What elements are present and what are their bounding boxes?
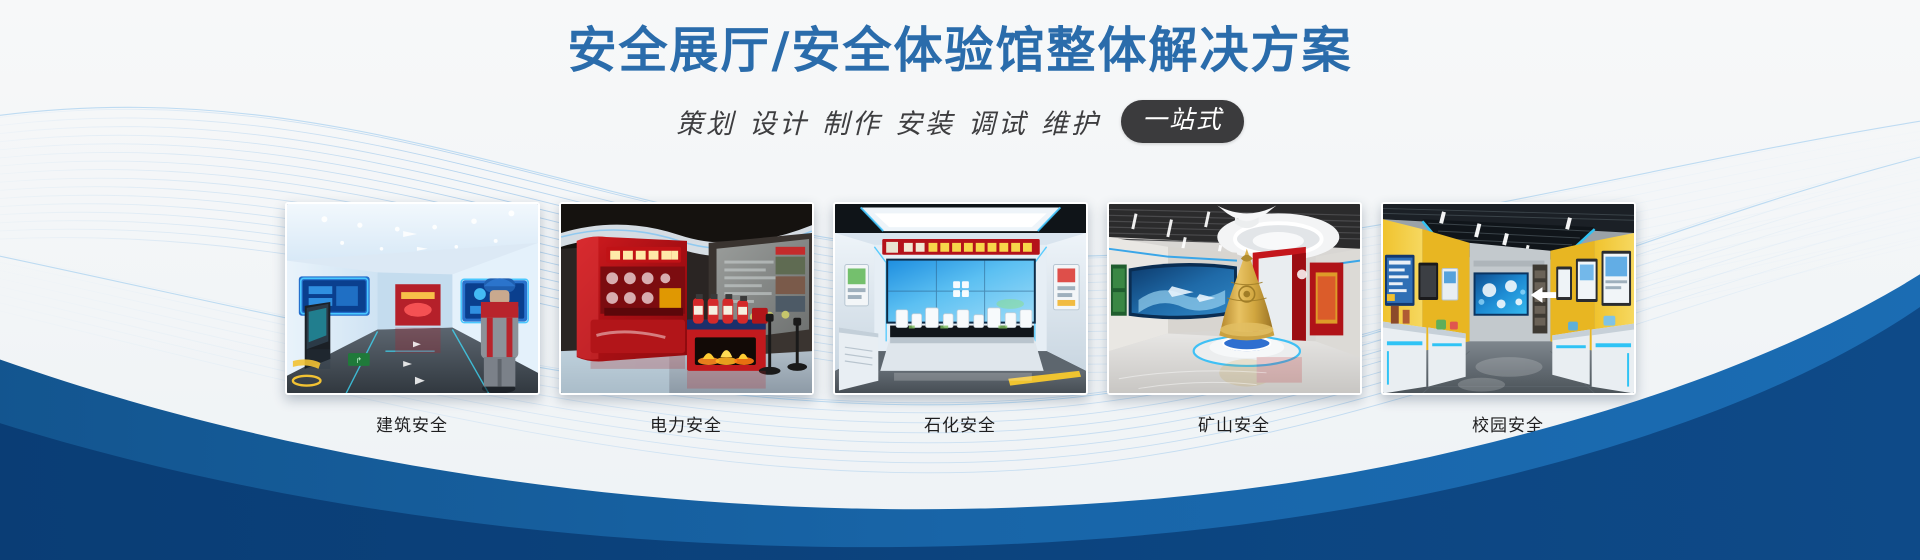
case-card-construction-safety[interactable]: ↱ xyxy=(285,202,540,436)
thumbnail-campus-safety[interactable] xyxy=(1381,202,1636,395)
page-title: 安全展厅/安全体验馆整体解决方案 xyxy=(568,22,1353,80)
service-steps: 策划 设计 制作 安装 调试 维护 一站式 xyxy=(0,100,1920,143)
service-step-production: 制作 xyxy=(822,102,882,141)
case-caption: 建筑安全 xyxy=(376,411,448,436)
service-step-planning: 策划 xyxy=(676,102,736,141)
case-card-petrochemical-safety[interactable]: 石化安全 xyxy=(833,202,1088,436)
service-step-design: 设计 xyxy=(749,102,809,141)
case-caption: 石化安全 xyxy=(924,411,996,436)
thumbnail-construction-safety[interactable]: ↱ xyxy=(285,202,540,395)
case-card-campus-safety[interactable]: 校园安全 xyxy=(1381,202,1636,436)
svg-text:↱: ↱ xyxy=(355,356,362,365)
case-card-power-safety[interactable]: 电力安全 xyxy=(559,202,814,436)
case-caption: 矿山安全 xyxy=(1198,411,1270,436)
thumbnail-petrochemical-safety[interactable] xyxy=(833,202,1088,395)
banner-root: 安全展厅/安全体验馆整体解决方案 策划 设计 制作 安装 调试 维护 一站式 xyxy=(0,0,1920,560)
title-wrap: 安全展厅/安全体验馆整体解决方案 xyxy=(0,22,1920,80)
thumbnail-mine-safety[interactable] xyxy=(1107,202,1362,395)
service-step-installation: 安装 xyxy=(895,102,955,141)
one-stop-badge: 一站式 xyxy=(1121,100,1244,143)
case-caption: 校园安全 xyxy=(1472,411,1544,436)
case-caption: 电力安全 xyxy=(650,411,722,436)
service-step-maintenance: 维护 xyxy=(1041,102,1101,141)
case-card-list: ↱ xyxy=(0,202,1920,436)
thumbnail-power-safety[interactable] xyxy=(559,202,814,395)
banner-content: 安全展厅/安全体验馆整体解决方案 策划 设计 制作 安装 调试 维护 一站式 xyxy=(0,0,1920,560)
case-card-mine-safety[interactable]: 矿山安全 xyxy=(1107,202,1362,436)
service-step-debugging: 调试 xyxy=(968,102,1028,141)
